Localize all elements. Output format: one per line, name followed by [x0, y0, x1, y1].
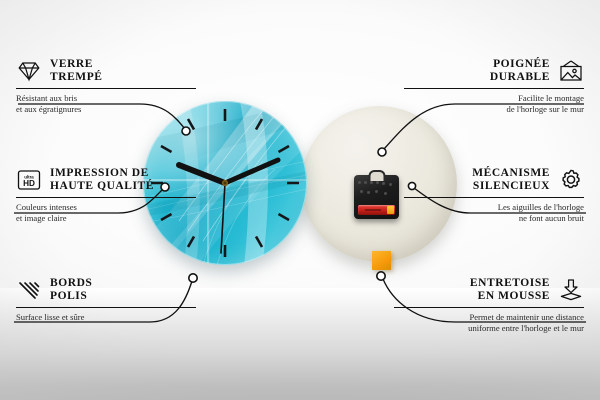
feature-desc-line2: ne font aucun bruit	[404, 213, 584, 223]
svg-text:HD: HD	[23, 179, 35, 188]
feature-header: VERRE TREMPÉ	[16, 58, 196, 84]
feature-desc-line1: Permet de maintenir une distance	[394, 312, 584, 322]
feature-verre-trempe[interactable]: VERRE TREMPÉ Résistant aux bris et aux é…	[16, 58, 196, 114]
feature-rule	[16, 88, 196, 89]
infographic-stage: VERRE TREMPÉ Résistant aux bris et aux é…	[0, 0, 600, 400]
feature-title: VERRE TREMPÉ	[50, 58, 103, 84]
feature-impression-hd[interactable]: ultra HD IMPRESSION DE HAUTE QUALITÉ Cou…	[16, 167, 196, 223]
feature-title: IMPRESSION DE HAUTE QUALITÉ	[50, 167, 154, 193]
feature-desc-line1: Résistant aux bris	[16, 93, 196, 103]
feature-desc-line1: Facilite le montage	[404, 93, 584, 103]
feature-desc-line1: Les aiguilles de l'horloge	[404, 202, 584, 212]
feature-header: ultra HD IMPRESSION DE HAUTE QUALITÉ	[16, 167, 196, 193]
ultra-hd-icon: ultra HD	[16, 167, 42, 193]
wall-hanger-icon	[558, 58, 584, 84]
feature-desc-line2: et image claire	[16, 213, 196, 223]
feature-header: ENTRETOISE EN MOUSSE	[394, 277, 584, 303]
feature-header: MÉCANISME SILENCIEUX	[404, 167, 584, 193]
feature-rule	[404, 197, 584, 198]
feature-rule	[404, 88, 584, 89]
feature-desc-line2: et aux égratignures	[16, 104, 196, 114]
gear-icon	[558, 167, 584, 193]
feature-title: ENTRETOISE EN MOUSSE	[470, 277, 550, 303]
feature-entretoise-mousse[interactable]: ENTRETOISE EN MOUSSE Permet de maintenir…	[394, 277, 584, 333]
feature-poignee-durable[interactable]: POIGNÉE DURABLE Facilite le montage de l…	[404, 58, 584, 114]
feature-rule	[394, 307, 584, 308]
diamond-icon	[16, 58, 42, 84]
feature-desc-line2: uniforme entre l'horloge et le mur	[394, 323, 584, 333]
feature-mecanisme-silencieux[interactable]: MÉCANISME SILENCIEUX Les aiguilles de l'…	[404, 167, 584, 223]
foam-spacer-icon	[558, 277, 584, 303]
feature-rule	[16, 307, 196, 308]
feature-title: MÉCANISME SILENCIEUX	[472, 167, 550, 193]
feature-rule	[16, 197, 196, 198]
feature-desc-line2: de l'horloge sur le mur	[404, 104, 584, 114]
feature-bords-polis[interactable]: BORDS POLIS Surface lisse et sûre	[16, 277, 196, 323]
feature-title: POIGNÉE DURABLE	[490, 58, 550, 84]
feature-desc-line1: Couleurs intenses	[16, 202, 196, 212]
feature-title: BORDS POLIS	[50, 277, 92, 303]
feature-desc-line1: Surface lisse et sûre	[16, 312, 196, 322]
feature-header: BORDS POLIS	[16, 277, 196, 303]
polished-edges-icon	[16, 277, 42, 303]
feature-header: POIGNÉE DURABLE	[404, 58, 584, 84]
